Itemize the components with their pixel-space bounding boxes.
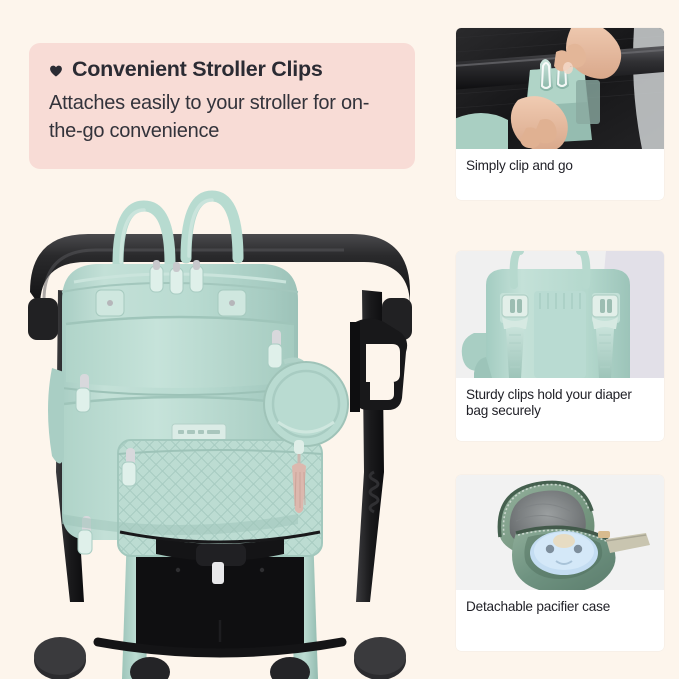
left-column: Convenient Stroller Clips Attaches easil… <box>0 0 440 679</box>
feature-cards-column: Simply clip and go <box>440 0 679 679</box>
hero-product-photo <box>0 172 440 679</box>
feature-card-2-photo <box>456 251 664 378</box>
feature-card-sturdy-clips[interactable]: Sturdy clips hold your diaper bag secure… <box>456 251 664 441</box>
feature-card-1-caption: Simply clip and go <box>456 149 664 174</box>
heart-icon <box>49 64 63 78</box>
feature-card-simply-clip-and-go[interactable]: Simply clip and go <box>456 28 664 200</box>
callout-box: Convenient Stroller Clips Attaches easil… <box>29 43 415 169</box>
feature-card-3-caption: Detachable pacifier case <box>456 590 664 615</box>
feature-card-1-photo <box>456 28 664 149</box>
callout-body: Attaches easily to your stroller for on-… <box>49 89 395 146</box>
feature-card-3-photo <box>456 475 664 590</box>
callout-title: Convenient Stroller Clips <box>72 58 323 82</box>
feature-card-2-caption: Sturdy clips hold your diaper bag secure… <box>456 378 664 419</box>
feature-card-detachable-pacifier-case[interactable]: Detachable pacifier case <box>456 475 664 651</box>
callout-heading-row: Convenient Stroller Clips <box>49 58 395 82</box>
